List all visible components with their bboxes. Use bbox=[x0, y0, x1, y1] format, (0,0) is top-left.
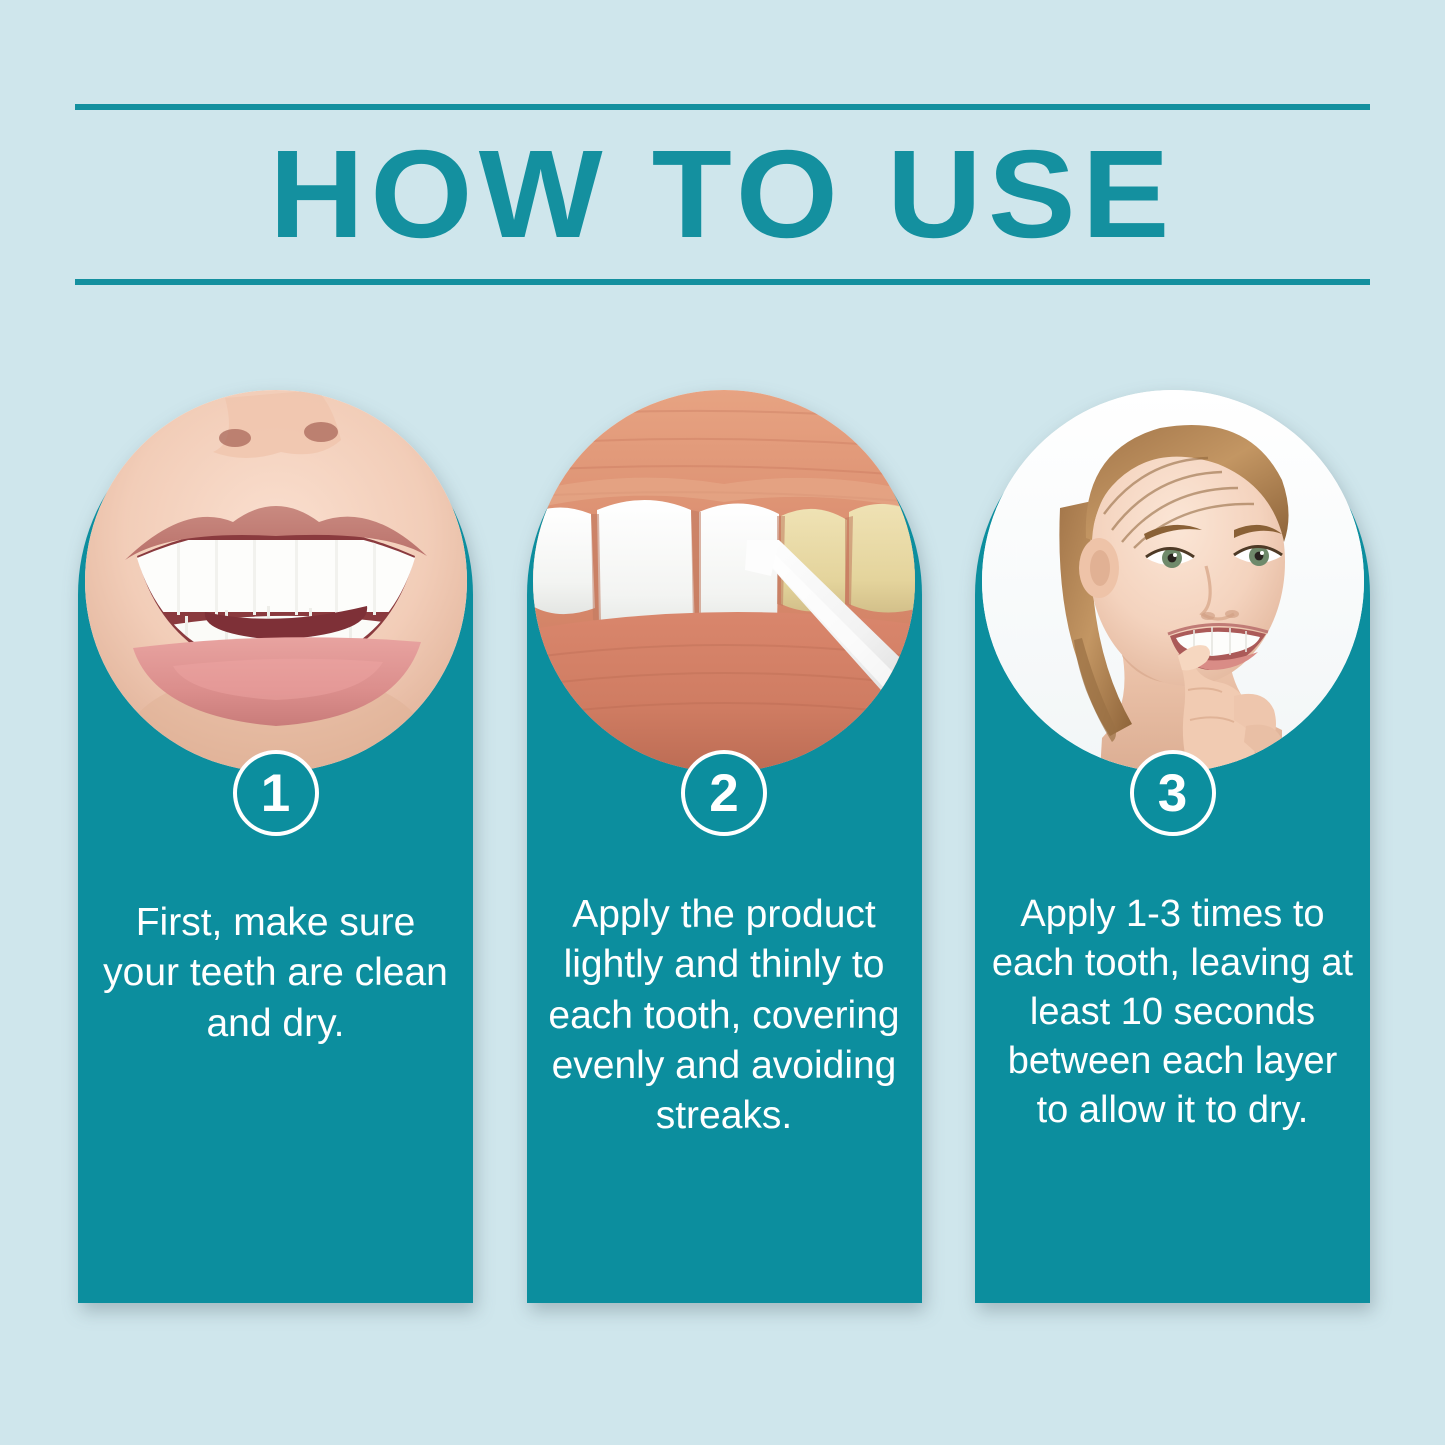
step-caption-1: First, make sure your teeth are clean an… bbox=[94, 898, 457, 1049]
step-photo-3 bbox=[982, 390, 1364, 772]
step-photo-1 bbox=[85, 390, 467, 772]
step-number-badge-1: 1 bbox=[233, 750, 319, 836]
title-rule-bottom bbox=[75, 279, 1370, 285]
page-title: HOW TO USE bbox=[43, 110, 1403, 279]
step-card-1[interactable]: 1 First, make sure your teeth are clean … bbox=[78, 398, 473, 1303]
step-number-badge-2: 2 bbox=[681, 750, 767, 836]
step-caption-2: Apply the product lightly and thinly to … bbox=[543, 890, 906, 1141]
step-card-2[interactable]: 2 Apply the product lightly and thinly t… bbox=[527, 398, 922, 1303]
step-caption-3: Apply 1-3 times to each tooth, leaving a… bbox=[991, 890, 1354, 1135]
step-card-3[interactable]: 3 Apply 1-3 times to each tooth, leaving… bbox=[975, 398, 1370, 1303]
header-block: HOW TO USE bbox=[75, 104, 1370, 285]
step-number-badge-3: 3 bbox=[1130, 750, 1216, 836]
steps-row: 1 First, make sure your teeth are clean … bbox=[78, 398, 1370, 1303]
step-photo-2 bbox=[533, 390, 915, 772]
